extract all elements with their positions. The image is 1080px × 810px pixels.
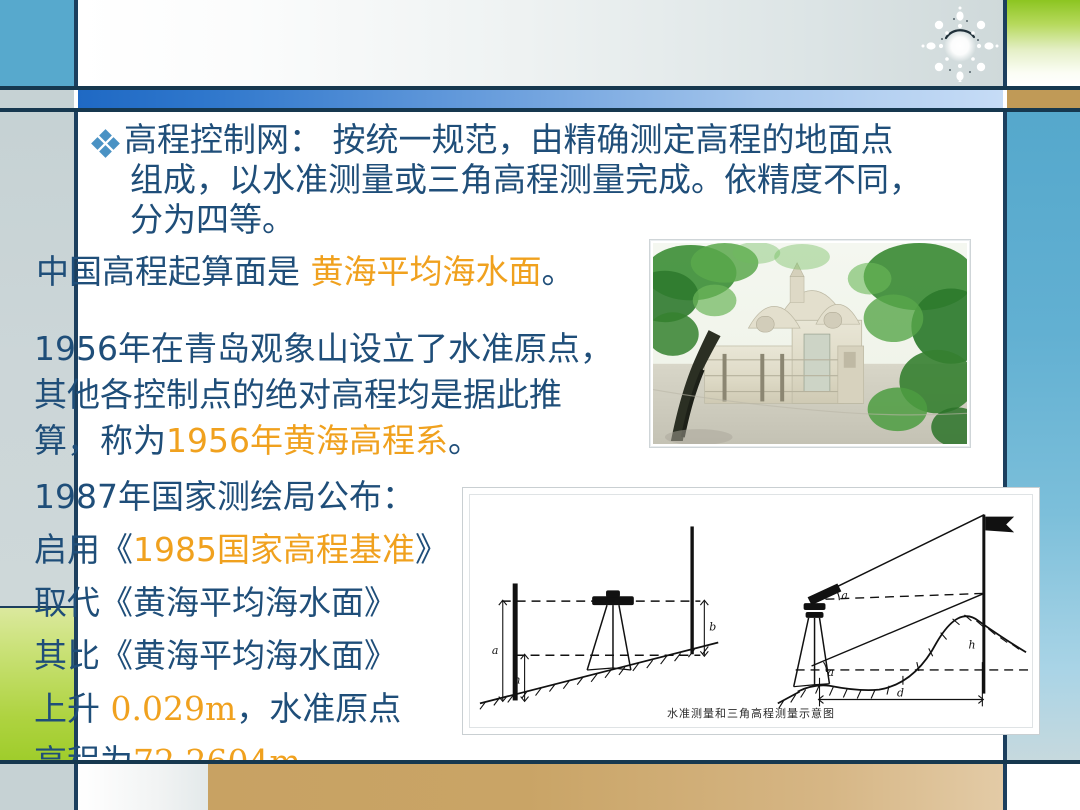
- standard-line-2-highlight: 1985国家高程基准: [133, 530, 415, 569]
- bullet-block: 高程控制网： 按统一规范，由精确测定高程的地面点 组成，以水准测量或三角高程测量…: [86, 120, 998, 240]
- diagram-label-h-left: h: [514, 674, 521, 687]
- origin-line-3: 算，称为1956年黄海高程系。: [34, 418, 613, 464]
- diagram-label-d: d: [897, 687, 904, 700]
- standard-line-5-lead: 上升: [34, 689, 111, 728]
- origin-line-1: 1956年在青岛观象山设立了水准原点，: [34, 326, 613, 372]
- qingdao-benchmark-photo: [649, 239, 971, 448]
- slide-content: 高程控制网： 按统一规范，由精确测定高程的地面点 组成，以水准测量或三角高程测量…: [78, 112, 1003, 760]
- standard-line-1: 1987年国家测绘局公布：: [34, 470, 448, 523]
- paragraph-origin: 1956年在青岛观象山设立了水准原点， 其他各控制点的绝对高程均是据此推 算，称…: [34, 326, 613, 464]
- top-left-divider: [74, 0, 78, 86]
- bullet-line-1: 高程控制网： 按统一规范，由精确测定高程的地面点: [124, 120, 998, 160]
- standard-line-2-tail: 》: [415, 530, 448, 569]
- top-band: [0, 0, 1080, 86]
- bottom-band: [0, 760, 1080, 810]
- diagram-label-a: a: [492, 644, 499, 657]
- sun-starburst-icon: [920, 6, 1000, 82]
- standard-line-2-lead: 启用《: [34, 530, 133, 569]
- origin-line-3-highlight: 1956年黄海高程系: [166, 421, 448, 460]
- bar-right-tan: [1007, 90, 1080, 108]
- paragraph-datum: 中国高程起算面是 黄海平均海水面。: [36, 252, 575, 292]
- standard-line-5-highlight: 0.029m: [111, 689, 237, 728]
- datum-highlight: 黄海平均海水面: [311, 252, 542, 291]
- blue-gradient-bar: [78, 90, 1003, 108]
- standard-line-3: 取代《黄海平均海水面》: [34, 576, 448, 629]
- top-center-gradient: [78, 0, 1003, 86]
- standard-line-4: 其比《黄海平均海水面》: [34, 629, 448, 682]
- blue-accent-bar-row: [0, 86, 1080, 112]
- bottom-left-grey: [0, 764, 74, 810]
- paragraph-standard: 1987年国家测绘局公布： 启用《1985国家高程基准》 取代《黄海平均海水面》…: [34, 470, 448, 788]
- diagram-label-b: b: [709, 621, 716, 634]
- slide: 高程控制网： 按统一规范，由精确测定高程的地面点 组成，以水准测量或三角高程测量…: [0, 0, 1080, 810]
- diagram-label-alpha-bottom: a: [827, 666, 834, 679]
- origin-line-2: 其他各控制点的绝对高程均是据此推: [34, 372, 613, 418]
- datum-lead: 中国高程起算面是: [36, 252, 311, 291]
- bottom-white-gradient: [78, 764, 208, 810]
- standard-line-2: 启用《1985国家高程基准》: [34, 523, 448, 576]
- bottom-right-white: [1007, 764, 1080, 810]
- bullet-line-2: 组成，以水准测量或三角高程测量完成。依精度不同，: [124, 160, 998, 200]
- bottom-tan-bar: [208, 764, 1003, 810]
- bullet-line-3: 分为四等。: [124, 200, 998, 240]
- leveling-trigonometric-diagram: a h b a a h d 水准测量和三角高程测量示意图: [462, 487, 1040, 735]
- diagram-caption: 水准测量和三角高程测量示意图: [470, 705, 1032, 721]
- top-right-divider: [1003, 0, 1007, 86]
- bar-left-grey: [0, 90, 74, 108]
- diagram-label-alpha-top: a: [841, 589, 848, 602]
- top-left-blue-block: [0, 0, 74, 86]
- standard-line-5: 上升 0.029m，水准原点: [34, 682, 448, 735]
- diamond-cluster-bullet-icon: [90, 128, 120, 158]
- diagram-label-h-right: h: [968, 638, 975, 651]
- origin-line-3-lead: 算，称为: [34, 421, 166, 460]
- standard-line-5-tail: ，水准原点: [236, 689, 401, 728]
- origin-line-3-tail: 。: [448, 421, 481, 460]
- top-right-green-gradient: [1007, 0, 1080, 86]
- bullet-paragraph: 高程控制网： 按统一规范，由精确测定高程的地面点 组成，以水准测量或三角高程测量…: [120, 120, 998, 240]
- datum-tail: 。: [542, 252, 575, 291]
